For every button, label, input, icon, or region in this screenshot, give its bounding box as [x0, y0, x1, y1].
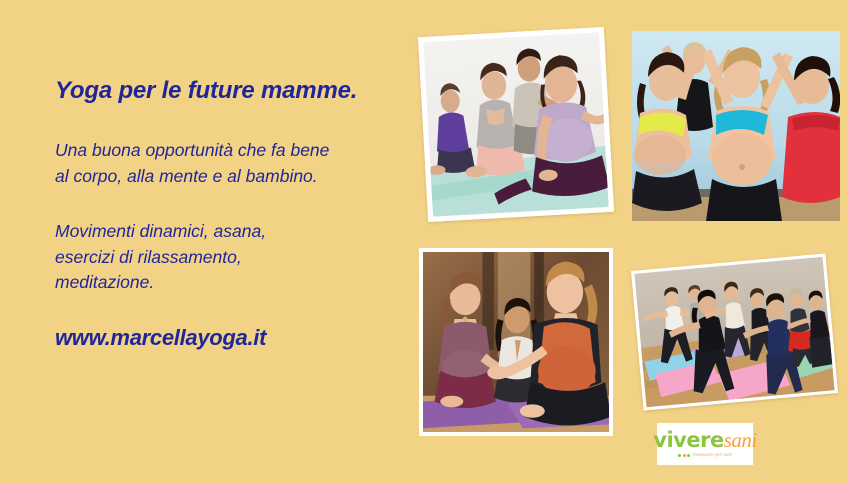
activities-line-3: meditazione.: [55, 270, 405, 295]
photo-prenatal-class: [418, 27, 614, 222]
photo-prenatal-class-image: [423, 32, 608, 217]
text-column: Yoga per le future mamme. Una buona oppo…: [55, 78, 405, 351]
brand-logo-tagline: benessere per tutti: [693, 453, 732, 458]
benefits-paragraph: Una buona opportunità che fa bene al cor…: [55, 138, 405, 189]
photo-arms-raised-image: [632, 31, 840, 221]
activities-line-2: esercizi di rilassamento,: [55, 245, 405, 270]
photo-seated-meditation-image: [423, 252, 609, 432]
brand-logo-wordmark: viveresani: [653, 430, 756, 451]
website-link[interactable]: www.marcellayoga.it: [55, 325, 405, 351]
photo-arms-raised: [632, 31, 840, 221]
brand-logo-primary: vivere: [653, 428, 723, 452]
brand-logo-tagline-row: benessere per tutti: [678, 453, 732, 458]
page-title: Yoga per le future mamme.: [55, 78, 405, 104]
brand-logo[interactable]: viveresani benessere per tutti: [657, 423, 753, 465]
benefits-line-1: Una buona opportunità che fa bene: [55, 138, 405, 163]
photo-standing-group-image: [634, 257, 834, 408]
activities-paragraph: Movimenti dinamici, asana, esercizi di r…: [55, 219, 405, 295]
benefits-line-2: al corpo, alla mente e al bambino.: [55, 164, 405, 189]
three-dots-icon: [678, 454, 690, 457]
photo-seated-meditation: [419, 248, 613, 436]
activities-line-1: Movimenti dinamici, asana,: [55, 219, 405, 244]
poster-canvas: Yoga per le future mamme. Una buona oppo…: [0, 0, 848, 484]
brand-logo-secondary: sani: [724, 428, 757, 452]
photo-standing-group: [631, 253, 838, 410]
